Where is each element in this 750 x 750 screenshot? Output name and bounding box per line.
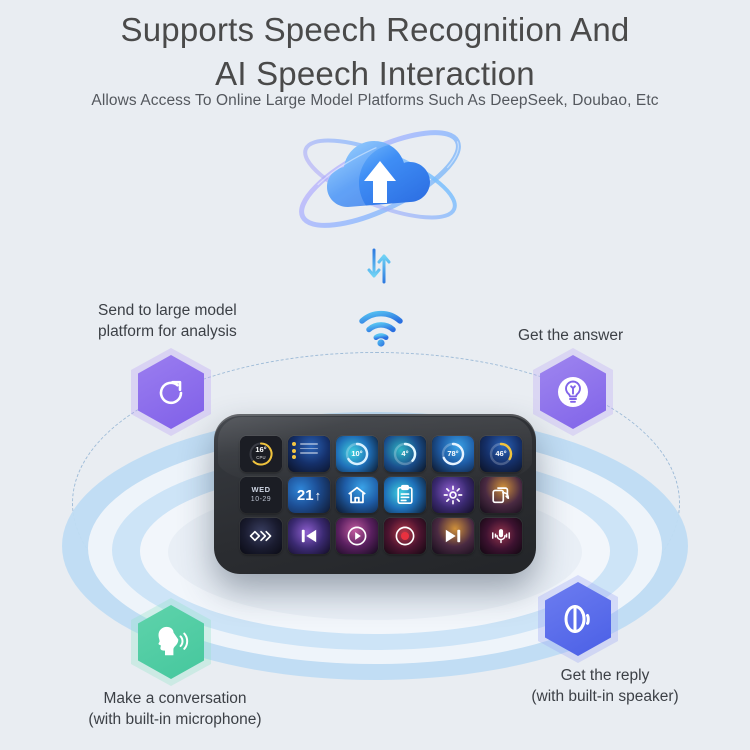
gauge-value: 46° <box>495 450 506 458</box>
play-icon <box>336 518 378 554</box>
speaker-volume-icon <box>560 602 596 636</box>
key-record[interactable] <box>384 518 426 554</box>
key-date[interactable]: WED 10-29 <box>240 477 282 513</box>
speaking-head-icon <box>153 626 189 658</box>
gauge-value: 78° <box>447 450 458 458</box>
number-up-arrow-icon: 21 ↑ <box>288 477 330 513</box>
microphone-icon <box>480 518 522 554</box>
key-grid: 16° CPU <box>240 436 522 554</box>
key-share[interactable] <box>480 477 522 513</box>
multi-function-touch-keypad[interactable]: 16° CPU <box>214 414 536 574</box>
key-play[interactable] <box>336 518 378 554</box>
gauge-unit: CPU <box>256 454 265 462</box>
key-settings[interactable] <box>432 477 474 513</box>
cloud-upload-icon <box>280 113 480 245</box>
share-circular-arrow-icon <box>155 376 187 408</box>
up-down-transfer-arrows-icon <box>360 248 400 284</box>
page-title: Supports Speech Recognition And AI Speec… <box>0 8 750 96</box>
double-chevron-icon <box>240 518 282 554</box>
record-icon <box>384 518 426 554</box>
key-previous-track[interactable] <box>288 518 330 554</box>
poster-canvas: Supports Speech Recognition And AI Speec… <box>0 0 750 750</box>
next-track-icon <box>432 518 474 554</box>
wifi-icon <box>357 308 405 348</box>
gauge-icon: 46° <box>480 436 522 472</box>
gauge-value: 4° <box>401 450 408 458</box>
home-icon <box>336 477 378 513</box>
key-cpu-temp-gauge[interactable]: 16° CPU <box>240 436 282 472</box>
badge-label-answer-line1: Get the answer <box>518 325 748 346</box>
key-temp-gauge-10[interactable]: 10° <box>336 436 378 472</box>
key-temp-gauge-78[interactable]: 78° <box>432 436 474 472</box>
badge-make-conversation[interactable] <box>138 605 204 679</box>
badge-get-reply[interactable] <box>545 582 611 656</box>
date-weekday: WED <box>252 485 271 495</box>
list-dots-icon <box>288 436 330 472</box>
key-double-chevron[interactable] <box>240 518 282 554</box>
badge-send-to-model[interactable] <box>138 355 204 429</box>
badge-label-send-line2: platform for analysis <box>98 321 298 342</box>
key-microphone[interactable] <box>480 518 522 554</box>
page-title-line1: Supports Speech Recognition And <box>121 11 630 48</box>
badge-get-answer[interactable] <box>540 355 606 429</box>
key-temp-gauge-4[interactable]: 4° <box>384 436 426 472</box>
key-clipboard[interactable] <box>384 477 426 513</box>
clipboard-icon <box>384 477 426 513</box>
badge-label-send-line1: Send to large model <box>98 300 298 321</box>
gauge-icon: 16° CPU <box>240 436 282 472</box>
key-list-menu[interactable] <box>288 436 330 472</box>
up-arrow-glyph: ↑ <box>315 488 322 503</box>
date-daymonth: 10-29 <box>251 495 271 505</box>
key-home[interactable] <box>336 477 378 513</box>
badge-label-speaker: Get the reply (with built-in speaker) <box>480 665 730 707</box>
share-copy-icon <box>480 477 522 513</box>
previous-track-icon <box>288 518 330 554</box>
gear-icon <box>432 477 474 513</box>
badge-label-speaker-line2: (with built-in speaker) <box>480 686 730 707</box>
badge-label-mic-line2: (with built-in microphone) <box>30 709 320 730</box>
page-title-line2: AI Speech Interaction <box>0 52 750 96</box>
date-tile: WED 10-29 <box>240 477 282 513</box>
badge-label-microphone: Make a conversation (with built-in micro… <box>30 688 320 730</box>
gauge-value: 16° <box>255 446 266 454</box>
gauge-icon: 78° <box>432 436 474 472</box>
badge-label-speaker-line1: Get the reply <box>480 665 730 686</box>
gauge-value: 10° <box>351 450 362 458</box>
badge-label-answer: Get the answer <box>518 325 748 346</box>
lightbulb-icon <box>554 373 592 411</box>
badge-label-send: Send to large model platform for analysi… <box>98 300 298 342</box>
page-subtitle: Allows Access To Online Large Model Plat… <box>0 92 750 110</box>
badge-label-mic-line1: Make a conversation <box>30 688 320 709</box>
key-next-track[interactable] <box>432 518 474 554</box>
key-number-value: 21 <box>297 487 314 504</box>
key-temp-gauge-46[interactable]: 46° <box>480 436 522 472</box>
gauge-icon: 10° <box>336 436 378 472</box>
gauge-icon: 4° <box>384 436 426 472</box>
key-temperature-set[interactable]: 21 ↑ <box>288 477 330 513</box>
